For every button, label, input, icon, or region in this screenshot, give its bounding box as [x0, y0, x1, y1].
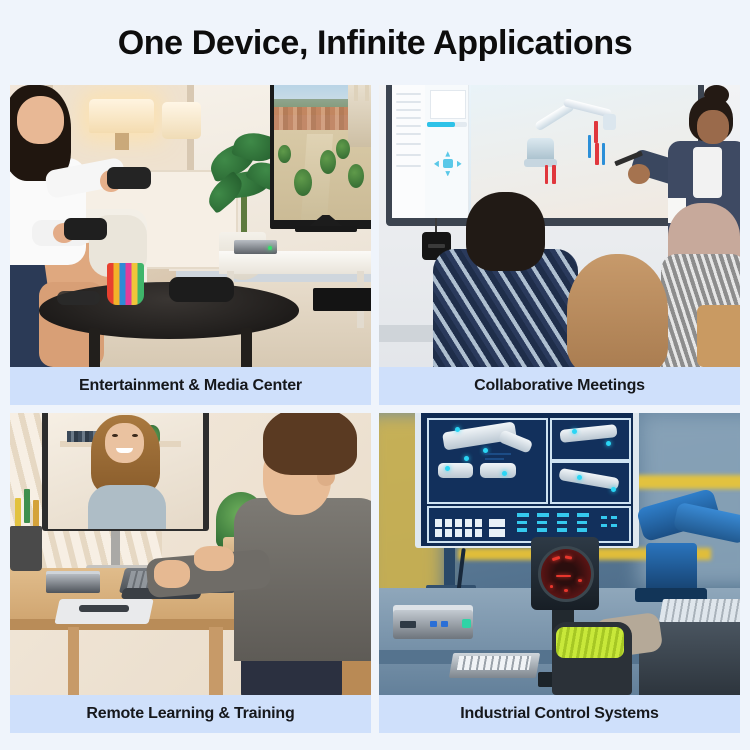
photo-industrial [379, 413, 740, 695]
device-vent [428, 244, 445, 247]
striped-cup [107, 263, 143, 305]
telemetry-flag [601, 524, 607, 527]
chair [697, 305, 740, 367]
tv-tree [294, 169, 312, 196]
telemetry-cell [475, 519, 482, 527]
monitor-stand [111, 526, 120, 568]
schematic-callout [485, 458, 504, 460]
grid-cell-remote-learning[interactable]: Remote Learning & Training [10, 413, 371, 733]
sidebar-line [396, 101, 421, 103]
preview-thumbnail [430, 90, 466, 119]
pencil [24, 489, 30, 523]
hi-vis-glove-cuff [556, 627, 625, 658]
desk-leg [209, 627, 223, 695]
telemetry-header [577, 513, 589, 517]
photo-collaboration [379, 85, 740, 367]
interactive-display-screen [392, 85, 699, 218]
game-controller-icon [169, 277, 234, 302]
screen-panel-top-right [550, 418, 631, 460]
sidebar-line [396, 93, 421, 95]
telemetry-cell [465, 529, 472, 537]
mini-pc-usb-port [430, 621, 437, 627]
telemetry-value [577, 528, 587, 531]
tv-spire [365, 85, 369, 101]
table-leg [241, 328, 252, 367]
telemetry-value [557, 521, 567, 524]
caption-remote-learning: Remote Learning & Training [10, 695, 371, 733]
telemetry-header [517, 513, 529, 517]
table-lamp-icon [89, 99, 154, 133]
sidebar-line [396, 143, 421, 145]
sim-marker-red [594, 121, 597, 144]
telemetry-flag [611, 524, 617, 527]
sim-marker-blue [588, 135, 591, 158]
photo-entertainment [10, 85, 371, 367]
robot-gripper [603, 114, 615, 130]
telemetry-cell [489, 529, 505, 537]
telemetry-value [577, 521, 587, 524]
tv-spire [354, 85, 358, 101]
scope-reticle-mark [556, 575, 571, 578]
tutor-eye [112, 434, 118, 437]
pencil-cup [10, 526, 42, 571]
software-sidebar [392, 85, 427, 218]
telemetry-value [517, 521, 527, 524]
desk-leg [68, 627, 79, 695]
caption-industrial: Industrial Control Systems [379, 695, 740, 733]
scope-reticle-dot [564, 589, 568, 592]
mini-pc-device [393, 610, 472, 638]
sidebar-line [396, 109, 421, 111]
telemetry-cell [465, 519, 472, 527]
telemetry-value [537, 521, 547, 524]
attendee-hair [567, 254, 668, 367]
telemetry-value [537, 528, 547, 531]
promo-page: One Device, Infinite Applications [0, 0, 750, 750]
screen-panel-main [427, 418, 548, 504]
tutor-torso [88, 485, 166, 529]
monitor-screen [48, 413, 203, 529]
caption-collaboration: Collaborative Meetings [379, 367, 740, 405]
tutor-face [105, 423, 144, 462]
presenter-hand [628, 164, 650, 184]
scope-reticle-dot [550, 585, 554, 588]
telemetry-header [557, 513, 569, 517]
stylus-pen [79, 605, 130, 612]
telemetry-cell [445, 529, 452, 537]
telemetry-cell [489, 519, 505, 527]
mini-pc-usb-port [441, 621, 448, 627]
sim-marker-red [552, 165, 555, 185]
sunglasses [57, 291, 100, 305]
screen-panel-telemetry [427, 506, 631, 543]
lamp-base [115, 133, 129, 150]
telemetry-value [517, 528, 527, 531]
student-hand [194, 546, 234, 571]
game-controller-icon [64, 218, 107, 241]
tv-tree [278, 145, 291, 164]
dpad-center-icon [443, 159, 453, 168]
av-receiver [313, 288, 371, 311]
power-led-icon [268, 246, 272, 250]
telemetry-cell [475, 529, 482, 537]
sim-marker-blue [602, 143, 605, 164]
television-screen [274, 85, 371, 220]
schematic-node [606, 441, 611, 446]
student-hair [263, 413, 357, 475]
sidebar-line [396, 117, 421, 119]
tv-foot [295, 226, 356, 232]
sim-marker-red [595, 143, 598, 164]
grid-cell-industrial[interactable]: Industrial Control Systems [379, 413, 740, 733]
scope-reticle-dot [578, 579, 582, 582]
presenter-hair-bun [704, 85, 729, 105]
mouse-pad [54, 599, 153, 624]
grid-cell-entertainment[interactable]: Entertainment & Media Center [10, 85, 371, 405]
grid-cell-collaboration[interactable]: Collaborative Meetings [379, 85, 740, 405]
page-title: One Device, Infinite Applications [0, 24, 750, 63]
person-face [17, 96, 64, 144]
attendee-hair [466, 192, 545, 271]
secondary-keyboard [659, 599, 740, 622]
robot-part-diagram [480, 463, 515, 478]
telemetry-cell [455, 519, 462, 527]
schematic-node [577, 475, 582, 480]
power-led-icon [462, 619, 471, 629]
game-controller-icon [107, 167, 150, 190]
sim-marker-red [545, 165, 548, 185]
telemetry-header [537, 513, 549, 517]
mini-pc-port [400, 621, 416, 628]
monitor-stand [444, 543, 455, 588]
telemetry-flag [611, 516, 617, 519]
schematic-node [502, 471, 507, 476]
sidebar-line [396, 165, 421, 167]
telemetry-cell [435, 529, 442, 537]
robot-arm-diagram [558, 468, 619, 490]
sidebar-line [396, 154, 421, 156]
mini-pc-device [46, 574, 100, 594]
photo-remote-learning [10, 413, 371, 695]
schematic-node [455, 427, 460, 432]
sidebar-line [396, 133, 421, 135]
keyboard-keys [457, 656, 532, 670]
robot-part-diagram [438, 463, 473, 478]
blue-robot-base [646, 543, 697, 594]
sidebar-line [396, 125, 421, 127]
second-lamp [162, 102, 202, 139]
schematic-callout [485, 453, 511, 455]
control-monitor-screen [421, 413, 634, 546]
screen-panel-bottom-right [550, 461, 631, 505]
scope-reticle-mark [565, 555, 572, 559]
application-grid: Entertainment & Media Center [10, 85, 740, 733]
table-leg [89, 328, 100, 367]
scope-reticle-mark [552, 555, 560, 560]
student-hand [154, 560, 190, 588]
progress-bar-icon [427, 122, 455, 127]
telemetry-cell [435, 519, 442, 527]
caption-entertainment: Entertainment & Media Center [10, 367, 371, 405]
telemetry-value [557, 528, 567, 531]
telemetry-flag [601, 516, 607, 519]
telemetry-cell [445, 519, 452, 527]
media-console [219, 251, 371, 274]
schematic-node [611, 487, 616, 492]
presenter-face [697, 110, 729, 144]
telemetry-cell [455, 529, 462, 537]
schematic-node [464, 456, 469, 461]
presenter-shirt [693, 147, 722, 198]
